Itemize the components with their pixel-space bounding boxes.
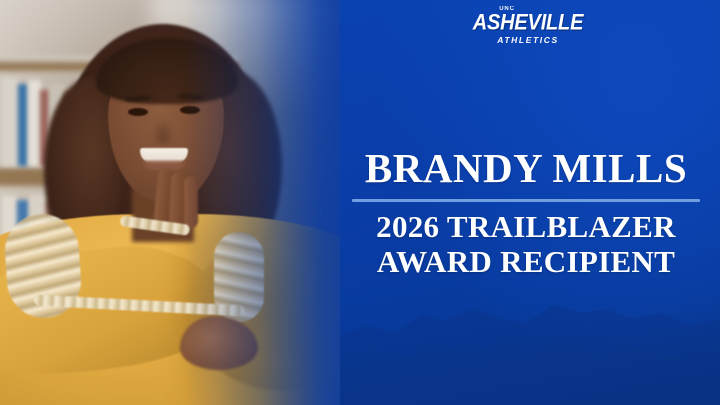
headline-divider — [352, 199, 700, 202]
award-title-line-1: 2026 TRAILBLAZER — [352, 210, 700, 245]
honoree-name: BRANDY MILLS — [352, 148, 700, 190]
award-title-line-2: AWARD RECIPIENT — [352, 245, 700, 280]
award-title: 2026 TRAILBLAZER AWARD RECIPIENT — [352, 210, 700, 279]
award-announcement-graphic: UNC ASHEVILLE ATHLETICS BRANDY MILLS 202… — [0, 0, 720, 405]
headline-block: BRANDY MILLS 2026 TRAILBLAZER AWARD RECI… — [352, 148, 700, 279]
unc-asheville-athletics-logo: UNC ASHEVILLE ATHLETICS — [472, 6, 584, 45]
logo-asheville-text: ASHEVILLE — [472, 12, 584, 34]
mountain-silhouette-icon — [340, 275, 720, 405]
logo-athletics-text: ATHLETICS — [472, 36, 584, 45]
